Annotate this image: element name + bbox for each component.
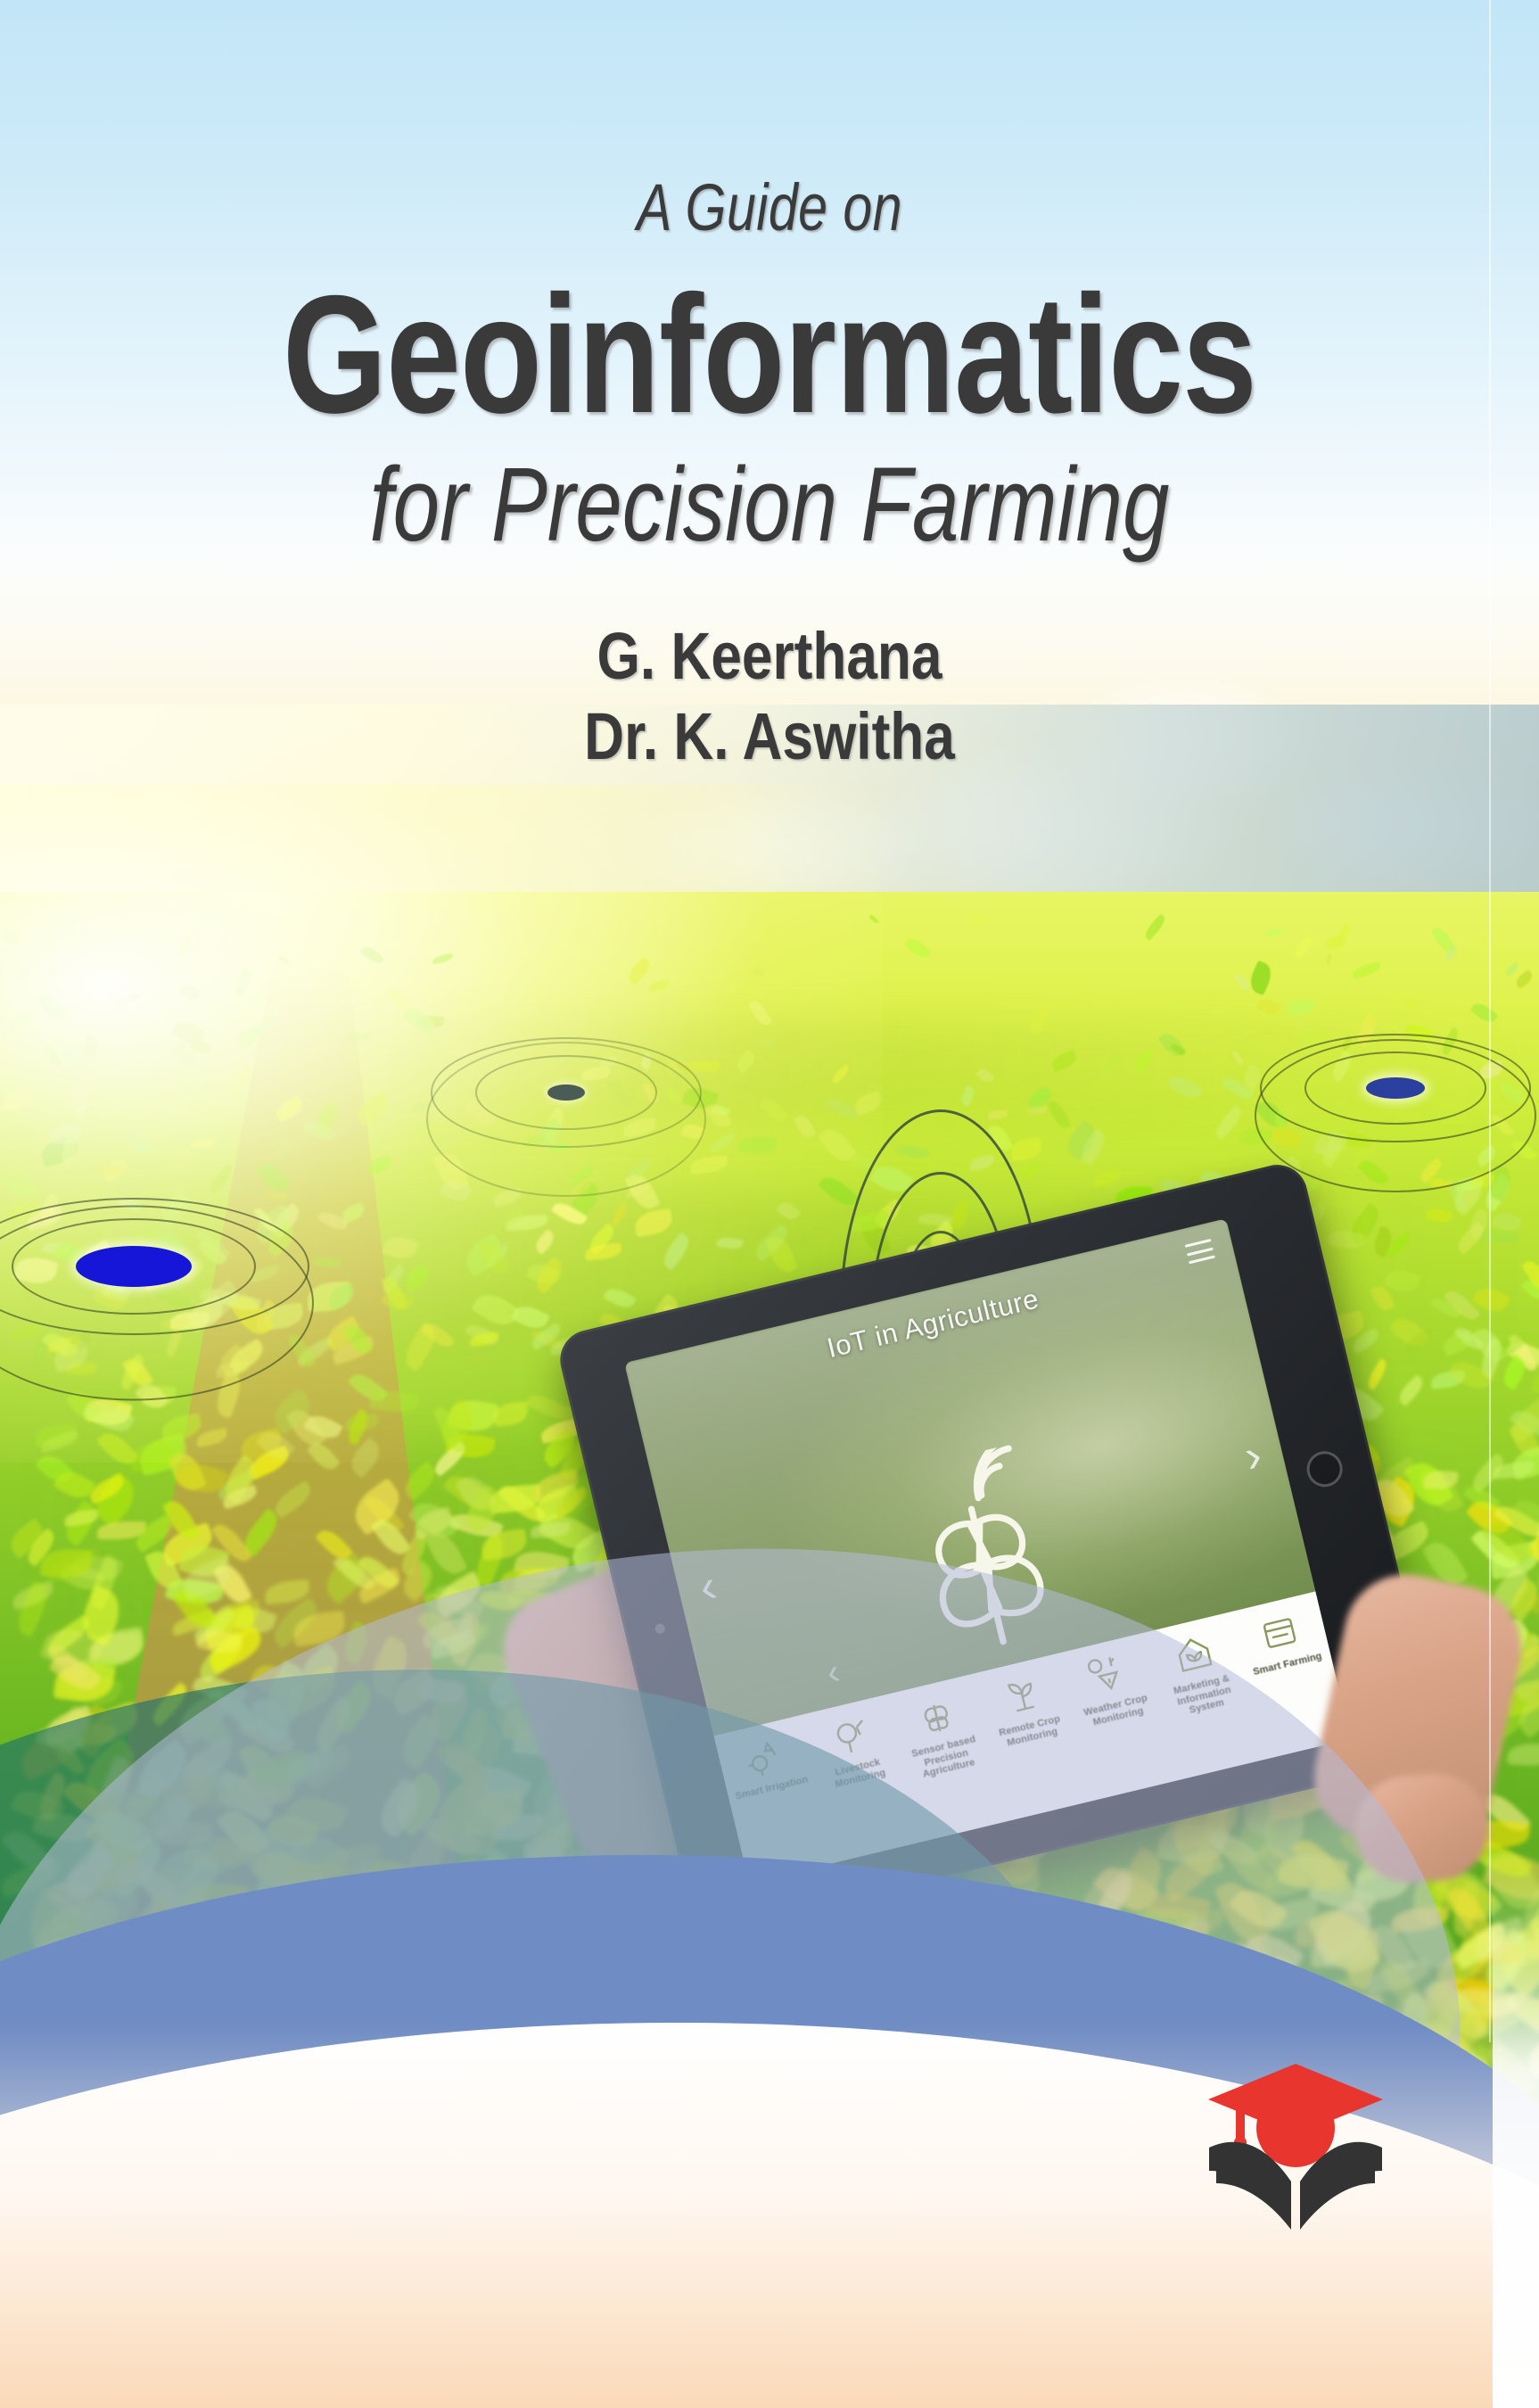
app-item[interactable]: Remote Crop Monitoring [975,1664,1077,1753]
author-name: G. Keerthana [123,616,1416,697]
app-item[interactable]: Smart Farming [1232,1602,1332,1680]
app-item-label: Remote Crop Monitoring [985,1711,1076,1753]
livestock-monitoring-icon [824,1711,877,1762]
authors-list: G. Keerthana Dr. K. Aswitha [0,563,1539,778]
remote-crop-icon [995,1669,1049,1720]
kicker-text: A Guide on [154,0,1386,241]
home-button[interactable] [1303,1447,1346,1490]
weather-warning-icon [1082,1648,1135,1700]
app-item-label: Weather Crop Monitoring [1072,1690,1163,1733]
app-item-label: Marketing & Information System [1157,1670,1251,1723]
app-item[interactable]: Smart Irrigation [716,1726,816,1804]
app-item[interactable]: Weather Crop Monitoring [1060,1643,1163,1732]
tablet-screen[interactable]: IoT in Agriculture ‹ › ‹ [624,1218,1351,1883]
page-title: Geoinformatics [154,241,1386,443]
front-camera-dot [654,1623,666,1635]
title-block: A Guide on Geoinformatics for Precision … [0,0,1539,777]
data-card-icon [1254,1607,1307,1659]
app-item-label: Smart Irrigation [735,1774,810,1802]
graduation-cap-book-logo [1204,2058,1387,2233]
subtitle-text: for Precision Farming [154,443,1386,562]
precision-agriculture-icon [909,1689,963,1741]
smart-irrigation-icon [737,1731,791,1783]
greenhouse-icon [1167,1628,1221,1679]
app-item[interactable]: Livestock Monitoring [802,1705,905,1794]
book-cover: IoT in Agriculture ‹ › ‹ [0,0,1539,2408]
crop-row-shade-1 [0,1017,1539,1124]
app-item-label: Livestock Monitoring [813,1752,904,1794]
author-name: Dr. K. Aswitha [123,697,1416,777]
app-item-label: Sensor based Precision Agriculture [900,1731,993,1785]
